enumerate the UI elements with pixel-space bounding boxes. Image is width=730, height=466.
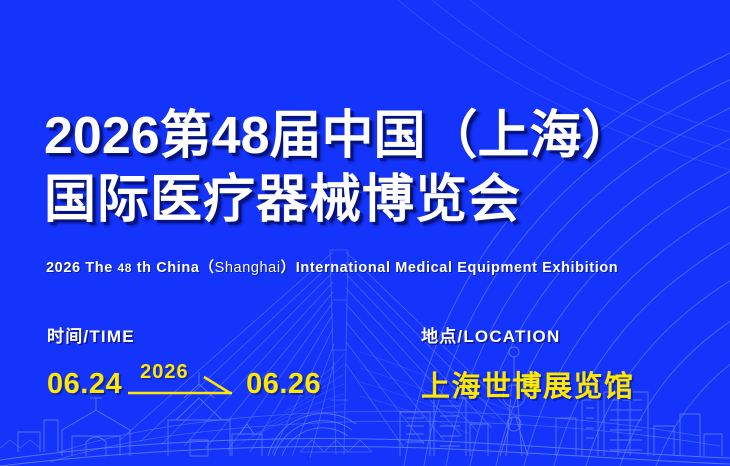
time-info-block: 时间/TIME 06.24 2026 06.26 [47,322,321,399]
subtitle-part-1: 2026 The [46,260,118,276]
subtitle-part-3: th China（ [132,260,215,276]
title-line-1: 2026第48届中国（上海） [44,104,704,168]
end-date: 06.26 [246,370,321,399]
start-date: 06.24 [47,370,122,399]
location-label: 地点/LOCATION [421,322,635,347]
location-info-block: 地点/LOCATION 上海世博展览馆 [421,322,635,405]
banner-title: 2026第48届中国（上海） 国际医疗器械博览会 [44,104,704,232]
location-venue: 上海世博展览馆 [421,363,635,405]
subtitle-city: Shanghai [215,260,281,276]
title-line-2: 国际医疗器械博览会 [44,168,704,232]
subtitle-part-5: ）International Medical Equipment Exhibit… [281,260,619,276]
exhibition-banner: 2026第48届中国（上海） 国际医疗器械博览会 2026 The 48 th … [0,0,730,466]
date-range-arrow-icon: 2026 [126,363,242,397]
banner-subtitle: 2026 The 48 th China（Shanghai）Internatio… [46,256,618,277]
time-value: 06.24 2026 06.26 [47,363,321,399]
time-label: 时间/TIME [47,322,321,347]
subtitle-edition-number: 48 [118,261,133,275]
